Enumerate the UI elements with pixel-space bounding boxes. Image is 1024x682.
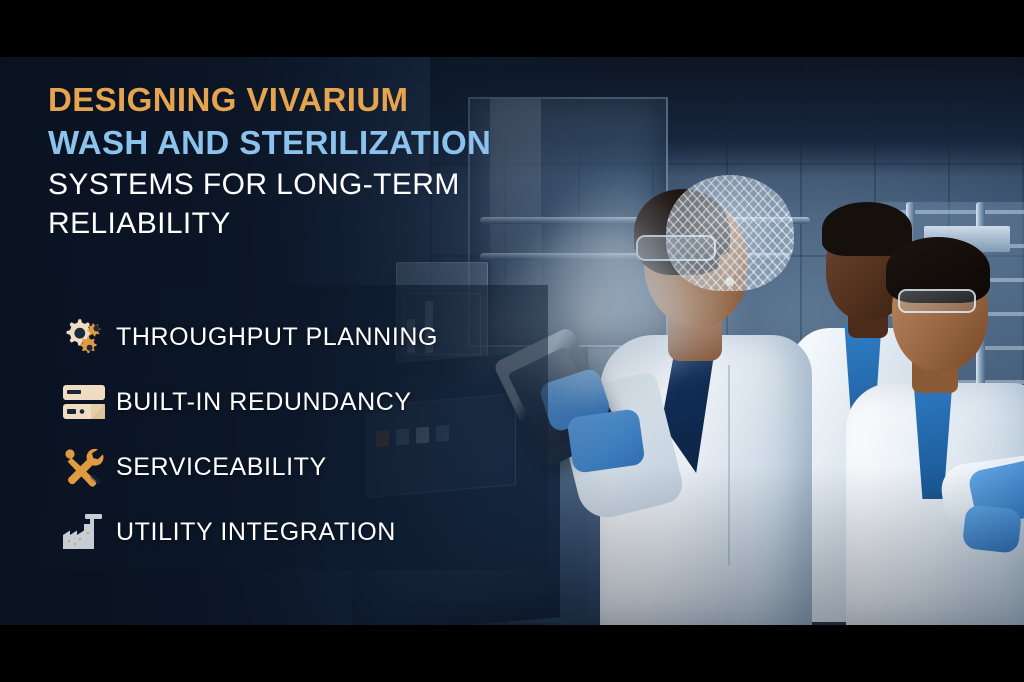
list-item-serviceability: SERVICEABILITY xyxy=(52,435,522,499)
factory-icon xyxy=(52,506,116,558)
letterbox-bottom-bar xyxy=(0,625,1024,682)
feature-list: THROUGHPUT PLANNING xyxy=(52,305,522,565)
server-stack-icon xyxy=(52,376,116,428)
headline-line-3: SYSTEMS FOR LONG-TERM xyxy=(48,165,568,205)
list-item-label: THROUGHPUT PLANNING xyxy=(116,323,438,352)
gears-icon xyxy=(52,311,116,363)
list-item-label: UTILITY INTEGRATION xyxy=(116,518,396,547)
headline-line-1: DESIGNING VIVARIUM xyxy=(48,79,568,122)
list-item-built-in-redundancy: BUILT-IN REDUNDANCY xyxy=(52,370,522,434)
headline-line-2: WASH AND STERILIZATION xyxy=(48,122,568,165)
slide-root: DESIGNING VIVARIUM WASH AND STERILIZATIO… xyxy=(0,0,1024,682)
wrench-screwdriver-icon xyxy=(52,441,116,493)
list-item-throughput-planning: THROUGHPUT PLANNING xyxy=(52,305,522,369)
background-photo: DESIGNING VIVARIUM WASH AND STERILIZATIO… xyxy=(0,57,1024,625)
list-item-label: SERVICEABILITY xyxy=(116,453,327,482)
list-item-label: BUILT-IN REDUNDANCY xyxy=(116,388,412,417)
page-title: DESIGNING VIVARIUM WASH AND STERILIZATIO… xyxy=(48,79,568,244)
letterbox-top-bar xyxy=(0,0,1024,57)
headline-line-4: RELIABILITY xyxy=(48,204,568,244)
list-item-utility-integration: UTILITY INTEGRATION xyxy=(52,500,522,564)
slide-content: DESIGNING VIVARIUM WASH AND STERILIZATIO… xyxy=(0,57,1024,625)
